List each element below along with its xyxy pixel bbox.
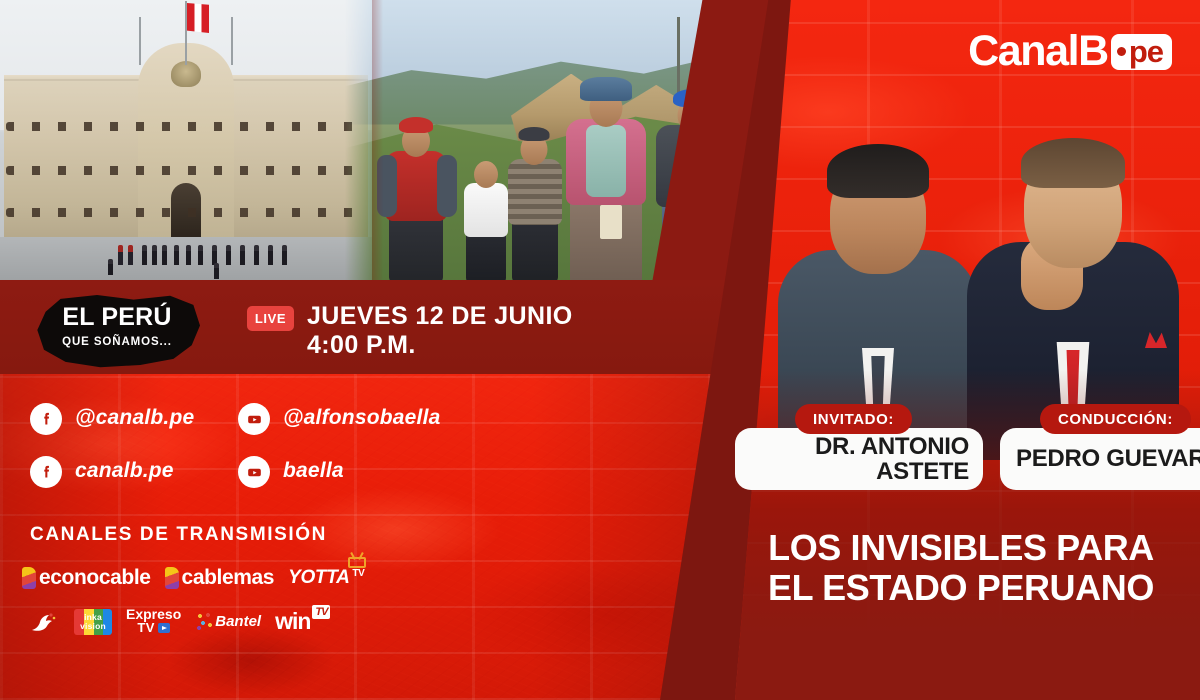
facebook-icon [30,456,62,488]
person-boy-striped [503,127,565,283]
dot-icon [1117,47,1126,56]
palace-window-row [6,122,364,131]
program-logo-line1: EL PERÚ [34,305,200,330]
palace-guard [162,245,167,265]
host-name: PEDRO GUEVARA [1016,446,1200,471]
channel-name-line2: TV [137,620,155,635]
guest-name-line2: ASTETE [876,458,969,485]
palace-guard [174,245,179,265]
tvperu-bird-icon [30,611,56,633]
channel-name: Bantel [215,613,261,630]
channel-name: YOTTA [288,567,349,588]
canalb-logo-word: CanalB [968,30,1108,73]
palace-guard [128,245,133,265]
broadcast-time: 4:00 P.M. [307,332,416,359]
palace-guard [226,245,231,265]
photo-strip [0,0,760,283]
cablemas-mark-icon [165,567,179,589]
canalb-logo-tld: pe [1129,36,1163,67]
social-handle: @alfonsobaella [283,406,440,430]
palace-guard [268,245,273,265]
palace-guard [152,245,157,265]
facebook-icon [30,403,62,435]
channel-logo-cablemas: cablemas [165,566,275,590]
program-headline: LOS INVISIBLES PARA EL ESTADO PERUANO [735,528,1187,609]
palace-guard [198,245,203,265]
palace-guard [118,245,123,265]
palace-guard [186,245,191,265]
tv-antenna-icon [348,557,366,568]
flagpole-left [139,17,141,65]
channel-logo-expresotv: Expreso TV [126,608,183,635]
channel-name: win [275,608,310,634]
channel-name-line2: vision [80,622,106,631]
social-handle: baella [283,459,344,483]
play-button-icon [158,623,170,633]
social-handle: canalb.pe [75,459,174,483]
broadcast-logo-row-secondary: inka vision Expreso TV Bantel winTV [26,608,330,635]
canalb-logo[interactable]: CanalB pe [968,30,1172,73]
palace-guard [254,245,259,265]
channel-logo-bantel: Bantel [197,613,261,631]
palace-window-row [6,166,364,175]
palace-guard [212,245,217,265]
program-logo-badge: EL PERÚ QUE SOÑAMOS... [34,292,200,368]
guest-name-line1: DR. ANTONIO [815,433,969,460]
person-boy-red-hoodie [381,118,451,283]
host-hair [1021,138,1125,188]
palace-guard [108,259,113,275]
host-name-line1: PEDRO GUEVARA [1016,445,1200,472]
channel-name: econocable [39,566,151,590]
broadcast-logo-row-primary: econocable cablemas YOTTATV [22,566,365,590]
palace-window-row [6,208,364,217]
promo-poster: EL PERÚ QUE SOÑAMOS... LIVE JUEVES 12 DE… [0,0,1200,700]
channel-logo-yotta: YOTTATV [288,567,364,589]
host-name-card: PEDRO GUEVARA [1000,428,1200,490]
guest-name-card: DR. ANTONIO ASTETE [735,428,983,490]
headline-line1: LOS INVISIBLES PARA [735,528,1187,568]
flagpole-center [185,1,187,65]
econocable-mark-icon [22,567,36,589]
channel-name-line1: Expreso [126,608,181,621]
host-role-badge: CONDUCCIÓN: [1040,404,1191,434]
palace-guard [282,245,287,265]
palace-guard [240,245,245,265]
guest-name: DR. ANTONIO ASTETE [815,434,969,485]
channel-name: cablemas [182,566,275,590]
bantel-dots-icon [197,613,213,631]
youtube-icon [238,456,270,488]
canalb-logo-tld-pill: pe [1111,34,1172,70]
flagpole-right [231,17,233,65]
channel-logo-econocable: econocable [22,566,151,590]
live-badge: LIVE [247,306,294,331]
broadcast-channels-title: CANALES DE TRANSMISIÓN [30,524,327,546]
broadcast-date: JUEVES 12 DE JUNIO [307,303,573,330]
program-logo-line2: QUE SOÑAMOS... [34,337,200,349]
peru-flag-icon [187,3,209,33]
youtube-icon [238,403,270,435]
palace-guard [214,263,219,279]
channel-logo-inkavision: inka vision [74,609,112,635]
person-woman-with-hat [560,78,652,283]
social-handle: @canalb.pe [75,406,194,430]
government-palace-photo [0,0,372,283]
channel-suffix: TV [312,605,330,619]
channel-suffix: TV [352,568,364,579]
palace-guard [142,245,147,265]
host-hair [827,144,929,198]
left-panel: EL PERÚ QUE SOÑAMOS... LIVE JUEVES 12 DE… [0,0,760,700]
channel-logo-tvperu [26,609,60,635]
headline-line2: EL ESTADO PERUANO [735,568,1187,608]
channel-logo-wintv: winTV [275,608,330,635]
guest-role-badge: INVITADO: [795,404,912,434]
